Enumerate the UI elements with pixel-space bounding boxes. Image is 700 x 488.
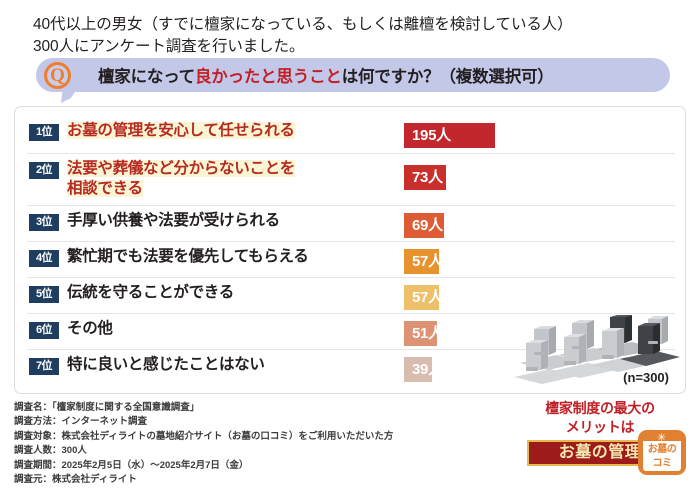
question-text: 檀家になって良かったと思うことは何ですか？（複数選択可） xyxy=(98,63,554,87)
survey-meta-target: 調査対象：株式会社ディライトの墓地紹介サイト（お墓の口コミ）をご利用いただいた方 xyxy=(14,430,574,444)
ohaka-kuchikomi-logo[interactable]: ✳ お墓の コミ xyxy=(638,430,686,475)
intro-line-1: 40代以上の男女（すでに檀家になっている、もしくは離檀を検討している人） xyxy=(33,14,683,36)
rank-badge-1: 1位 xyxy=(29,124,59,141)
rank-badge-5: 5位 xyxy=(29,286,59,303)
intro-line-2: 300人にアンケート調査を行いました。 xyxy=(33,36,683,58)
survey-meta-method: 調査方法：インターネット調査 xyxy=(14,415,574,429)
intro-text: 40代以上の男女（すでに檀家になっている、もしくは離檀を検討している人） 300… xyxy=(33,14,683,58)
question-text-highlight: 良かったと思うこと xyxy=(195,68,342,86)
survey-meta-period: 調査期間：2025年2月5日（水）～2025年2月7日（金） xyxy=(14,459,574,473)
value-bar-6: 51人 xyxy=(404,321,437,346)
row-separator xyxy=(27,205,675,206)
rank-badge-3: 3位 xyxy=(29,214,59,231)
rank-badge-2: 2位 xyxy=(29,162,59,179)
survey-meta-count: 調査人数：300人 xyxy=(14,444,574,458)
answer-label-5: 伝統を守ることができる xyxy=(67,283,397,303)
ranking-card: 1位お墓の管理を安心して任せられる195人2位法要や葬儀など分からないことを相談… xyxy=(14,106,686,394)
sample-size-label: (n=300) xyxy=(623,370,669,385)
logo-line-2: コミ xyxy=(638,454,686,469)
answer-label-7: 特に良いと感じたことはない xyxy=(67,355,397,375)
value-bar-7: 39人 xyxy=(404,357,432,382)
answer-label-3: 手厚い供養や法要が受けられる xyxy=(67,211,397,231)
row-separator xyxy=(27,277,675,278)
value-bar-5: 57人 xyxy=(404,285,439,310)
row-separator xyxy=(27,241,675,242)
logo-line-1: お墓の xyxy=(638,440,686,455)
answer-label-6: その他 xyxy=(67,319,397,339)
survey-meta-name: 調査名：「檀家制度に関する全国意識調査」 xyxy=(14,401,574,415)
question-text-before: 檀家になって xyxy=(98,68,195,86)
value-bar-3: 69人 xyxy=(404,213,444,238)
row-separator xyxy=(27,153,675,154)
value-bar-2: 73人 xyxy=(404,165,446,190)
question-banner: 檀家になって良かったと思うことは何ですか？（複数選択可） xyxy=(36,58,670,92)
survey-meta-source: 調査元：株式会社ディライト xyxy=(14,473,574,487)
rank-badge-4: 4位 xyxy=(29,250,59,267)
value-bar-1: 195人 xyxy=(404,123,495,148)
answer-label-1: お墓の管理を安心して任せられる xyxy=(67,121,397,141)
answer-label-4: 繁忙期でも法要を優先してもらえる xyxy=(67,247,397,267)
rank-badge-7: 7位 xyxy=(29,358,59,375)
value-bar-4: 57人 xyxy=(404,249,439,274)
survey-meta: 調査名：「檀家制度に関する全国意識調査」 調査方法：インターネット調査 調査対象… xyxy=(14,401,574,488)
row-separator xyxy=(27,313,675,314)
question-text-after: は何ですか？（複数選択可） xyxy=(342,68,554,86)
answer-label-2: 法要や葬儀など分からないことを相談できる xyxy=(67,159,397,199)
question-q-icon: Q xyxy=(44,62,71,89)
rank-badge-6: 6位 xyxy=(29,322,59,339)
